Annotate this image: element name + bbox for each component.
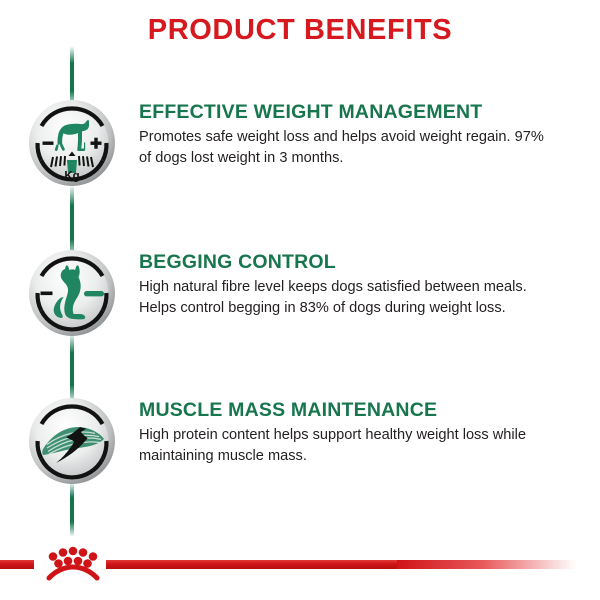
benefit-text-block: EFFECTIVE WEIGHT MANAGEMENT Promotes saf… bbox=[139, 101, 559, 169]
brand-bar-right bbox=[106, 560, 576, 569]
benefit-text-block: MUSCLE MASS MAINTENANCE High protein con… bbox=[139, 399, 559, 467]
benefit-heading: EFFECTIVE WEIGHT MANAGEMENT bbox=[139, 101, 559, 123]
muscle-fibre-icon bbox=[28, 397, 116, 485]
brand-footer bbox=[0, 530, 600, 600]
benefit-body: Promotes safe weight loss and helps avoi… bbox=[139, 127, 559, 168]
benefit-text-block: BEGGING CONTROL High natural fibre level… bbox=[139, 251, 559, 319]
benefit-heading: MUSCLE MASS MAINTENANCE bbox=[139, 399, 559, 421]
product-benefits-page: PRODUCT BENEFITS bbox=[0, 0, 600, 600]
brand-bar-left bbox=[0, 560, 34, 569]
kg-label: Kg bbox=[64, 171, 79, 183]
benefit-body: High natural fibre level keeps dogs sati… bbox=[139, 277, 559, 318]
begging-dog-icon bbox=[28, 249, 116, 337]
benefit-heading: BEGGING CONTROL bbox=[139, 251, 559, 273]
royal-canin-crown-logo bbox=[40, 544, 106, 586]
minus-bar-icon bbox=[41, 292, 53, 296]
benefit-body: High protein content helps support healt… bbox=[139, 425, 559, 466]
page-title: PRODUCT BENEFITS bbox=[0, 14, 600, 47]
dog-on-scale-icon: Kg bbox=[28, 99, 116, 187]
minus-sign-icon bbox=[43, 142, 54, 145]
connector-line-segment-bottom bbox=[70, 482, 74, 537]
connector-line-segment-2-3 bbox=[70, 333, 74, 405]
food-bar-icon bbox=[84, 291, 104, 296]
